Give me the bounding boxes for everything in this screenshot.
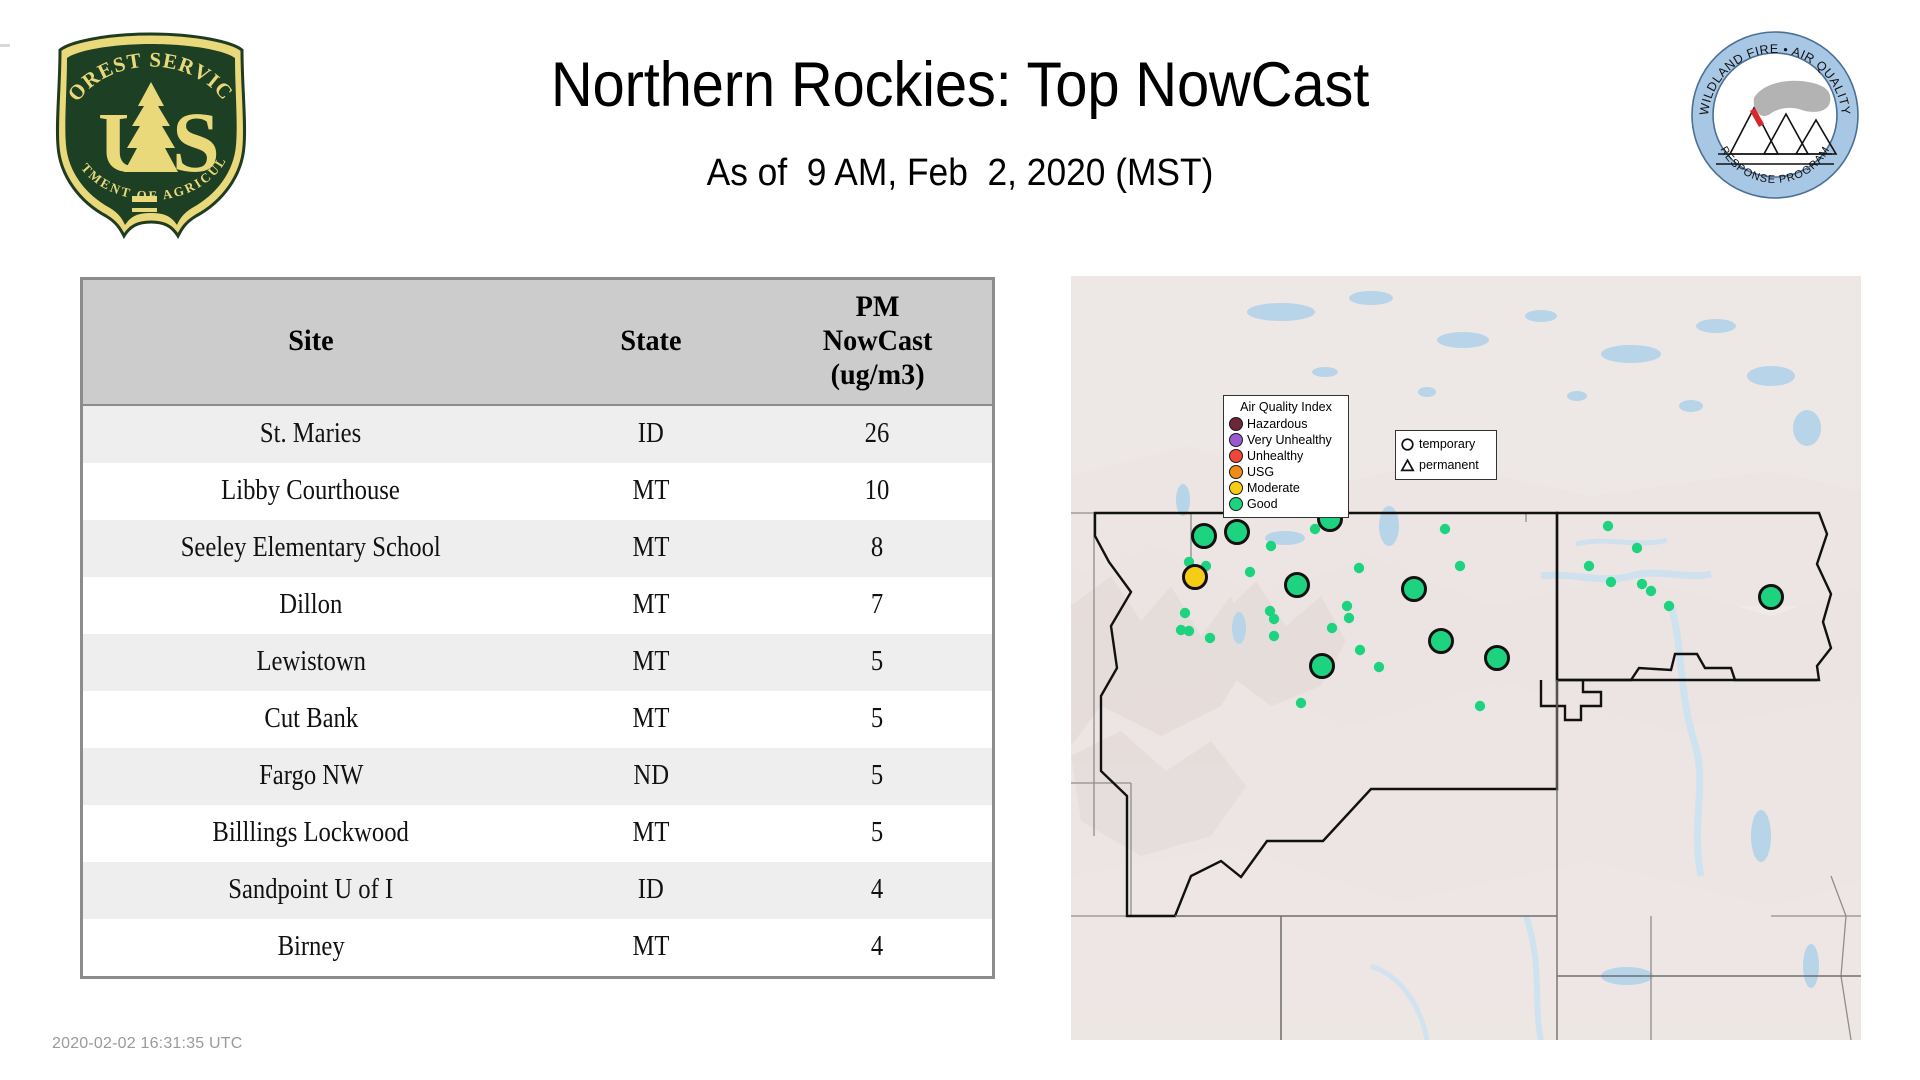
monitor-billings[interactable] bbox=[1430, 630, 1453, 653]
table-row: Fargo NWND5 bbox=[83, 748, 992, 805]
map-legend-monitor-type: temporary permanent bbox=[1395, 430, 1497, 480]
legend-title: Air Quality Index bbox=[1229, 400, 1343, 414]
cell-site-text: Birney bbox=[277, 931, 344, 963]
wildland-fire-air-quality-logo: WILDLAND FIRE • AIR QUALITY RESPONSE PRO… bbox=[1690, 30, 1860, 200]
table-row: BirneyMT4 bbox=[83, 919, 992, 976]
column-header-pm-line2: NowCast bbox=[773, 324, 981, 358]
cell-pm-nowcast: 5 bbox=[763, 748, 992, 805]
table-row: Seeley Elementary SchoolMT8 bbox=[83, 520, 992, 577]
cell-site-text: Seeley Elementary School bbox=[181, 532, 441, 564]
cell-site: St. Maries bbox=[83, 405, 539, 463]
cell-state: MT bbox=[539, 919, 763, 976]
cell-state: MT bbox=[539, 634, 763, 691]
cell-site-text: Libby Courthouse bbox=[222, 475, 401, 507]
cell-site-text: Billlings Lockwood bbox=[213, 817, 409, 849]
map-monitor-small bbox=[1310, 524, 1320, 534]
cell-state-text: MT bbox=[632, 532, 669, 564]
cell-state-text: MT bbox=[632, 817, 669, 849]
column-header-site: Site bbox=[83, 280, 539, 405]
cell-site: Lewistown bbox=[83, 634, 539, 691]
table-row: Sandpoint U of IID4 bbox=[83, 862, 992, 919]
map-monitor-small bbox=[1269, 614, 1279, 624]
cell-pm-nowcast-text: 10 bbox=[865, 475, 890, 507]
monitor-sandpoint[interactable] bbox=[1193, 525, 1216, 548]
cell-site: Seeley Elementary School bbox=[83, 520, 539, 577]
cell-pm-nowcast-text: 8 bbox=[871, 532, 883, 564]
cell-state-text: MT bbox=[632, 589, 669, 621]
map-monitor-small bbox=[1374, 662, 1384, 672]
monitor-lewistown[interactable] bbox=[1403, 578, 1426, 601]
cell-site: Dillon bbox=[83, 577, 539, 634]
map-monitor-small bbox=[1269, 631, 1279, 641]
table-row: DillonMT7 bbox=[83, 577, 992, 634]
map-monitor-small bbox=[1632, 543, 1642, 553]
legend-label-temporary: temporary bbox=[1419, 438, 1475, 451]
cell-site-text: Fargo NW bbox=[259, 760, 363, 792]
cell-site-text: Cut Bank bbox=[264, 703, 358, 735]
cell-state-text: MT bbox=[632, 931, 669, 963]
table-header-row: Site State PM NowCast (ug/m3) bbox=[83, 280, 992, 405]
legend-swatch-icon bbox=[1229, 449, 1243, 463]
cell-site-text: Sandpoint U of I bbox=[228, 874, 393, 906]
monitor-fargo-nw[interactable] bbox=[1760, 586, 1783, 609]
legend-row-usg: USG bbox=[1229, 464, 1343, 480]
page-subtitle: As of 9 AM, Feb 2, 2020 (MST) bbox=[346, 152, 1574, 195]
table-row: Billlings LockwoodMT5 bbox=[83, 805, 992, 862]
legend-swatch-icon bbox=[1229, 433, 1243, 447]
cell-state-text: ID bbox=[638, 418, 664, 450]
map-monitor-small bbox=[1296, 698, 1306, 708]
nowcast-table-body: St. MariesID26Libby CourthouseMT10Seeley… bbox=[83, 405, 992, 976]
map-legend-air-quality-index: Air Quality Index HazardousVery Unhealth… bbox=[1223, 395, 1349, 518]
cell-state-text: ND bbox=[633, 760, 669, 792]
legend-row-very-unhealthy: Very Unhealthy bbox=[1229, 432, 1343, 448]
table-row: Cut BankMT5 bbox=[83, 691, 992, 748]
legend-label: Moderate bbox=[1247, 482, 1300, 495]
permanent-triangle-icon bbox=[1400, 458, 1415, 473]
cell-site: Fargo NW bbox=[83, 748, 539, 805]
map-monitor-small bbox=[1205, 633, 1215, 643]
legend-row-temporary: temporary bbox=[1400, 434, 1492, 455]
cell-site-text: Dillon bbox=[279, 589, 342, 621]
legend-label-permanent: permanent bbox=[1419, 459, 1479, 472]
cell-pm-nowcast-text: 4 bbox=[871, 874, 883, 906]
cell-pm-nowcast: 8 bbox=[763, 520, 992, 577]
cell-pm-nowcast-text: 5 bbox=[871, 760, 883, 792]
cell-state: ID bbox=[539, 405, 763, 463]
cell-site: Billlings Lockwood bbox=[83, 805, 539, 862]
legend-swatch-icon bbox=[1229, 465, 1243, 479]
monitor-birney[interactable] bbox=[1486, 647, 1509, 670]
nowcast-table: Site State PM NowCast (ug/m3) St. Maries… bbox=[83, 280, 992, 976]
cell-pm-nowcast-text: 7 bbox=[871, 589, 883, 621]
table-row: St. MariesID26 bbox=[83, 405, 992, 463]
legend-row-good: Good bbox=[1229, 496, 1343, 512]
page-title: Northern Rockies: Top NowCast bbox=[353, 52, 1567, 118]
legend-label: Very Unhealthy bbox=[1247, 434, 1332, 447]
cell-pm-nowcast-text: 4 bbox=[871, 931, 883, 963]
cell-state: MT bbox=[539, 577, 763, 634]
column-header-state-label: State bbox=[549, 324, 752, 358]
nowcast-table-container: Site State PM NowCast (ug/m3) St. Maries… bbox=[80, 277, 995, 979]
slide-root: FOREST SERVICE DEPARTMENT OF AGRICULTURE… bbox=[0, 0, 1920, 1080]
cell-state: MT bbox=[539, 463, 763, 520]
cell-pm-nowcast: 10 bbox=[763, 463, 992, 520]
map-monitor-small bbox=[1266, 541, 1276, 551]
cell-site: Birney bbox=[83, 919, 539, 976]
cell-pm-nowcast: 26 bbox=[763, 405, 992, 463]
cell-site: Cut Bank bbox=[83, 691, 539, 748]
generation-timestamp: 2020-02-02 16:31:35 UTC bbox=[52, 1035, 243, 1053]
monitor-st-maries[interactable] bbox=[1184, 566, 1207, 589]
cell-state: MT bbox=[539, 691, 763, 748]
map-monitor-small bbox=[1342, 601, 1352, 611]
legend-row-moderate: Moderate bbox=[1229, 480, 1343, 496]
air-quality-map[interactable]: Air Quality Index HazardousVery Unhealth… bbox=[1071, 276, 1861, 1040]
column-header-site-label: Site bbox=[100, 324, 521, 358]
cell-state: ND bbox=[539, 748, 763, 805]
legend-swatch-icon bbox=[1229, 417, 1243, 431]
cell-pm-nowcast: 4 bbox=[763, 862, 992, 919]
cell-site-text: St. Maries bbox=[260, 418, 361, 450]
map-monitor-small bbox=[1606, 577, 1616, 587]
cell-state-text: MT bbox=[632, 703, 669, 735]
cell-state: MT bbox=[539, 805, 763, 862]
monitor-libby[interactable] bbox=[1226, 521, 1249, 544]
map-monitor-small bbox=[1245, 567, 1255, 577]
cell-state-text: ID bbox=[638, 874, 664, 906]
legend-label: Unhealthy bbox=[1247, 450, 1303, 463]
cell-pm-nowcast-text: 5 bbox=[871, 646, 883, 678]
cell-pm-nowcast-text: 5 bbox=[871, 703, 883, 735]
map-monitor-small bbox=[1664, 601, 1674, 611]
map-monitor-small bbox=[1475, 701, 1485, 711]
column-header-state: State bbox=[539, 280, 763, 405]
cell-site-text: Lewistown bbox=[256, 646, 366, 678]
cell-site: Libby Courthouse bbox=[83, 463, 539, 520]
legend-label: USG bbox=[1247, 466, 1274, 479]
legend-row-unhealthy: Unhealthy bbox=[1229, 448, 1343, 464]
cell-pm-nowcast: 7 bbox=[763, 577, 992, 634]
column-header-pm-line1: PM bbox=[773, 290, 981, 324]
map-monitor-small bbox=[1646, 586, 1656, 596]
map-monitor-small bbox=[1327, 623, 1337, 633]
map-monitor-small bbox=[1354, 563, 1364, 573]
monitor-dillon[interactable] bbox=[1311, 655, 1334, 678]
map-monitor-small bbox=[1440, 524, 1450, 534]
cell-pm-nowcast: 5 bbox=[763, 805, 992, 862]
column-header-pm-nowcast: PM NowCast (ug/m3) bbox=[763, 280, 992, 405]
legend-row-hazardous: Hazardous bbox=[1229, 416, 1343, 432]
cell-state: MT bbox=[539, 520, 763, 577]
cell-pm-nowcast-text: 26 bbox=[865, 418, 890, 450]
legend-row-permanent: permanent bbox=[1400, 455, 1492, 476]
map-canvas bbox=[1071, 276, 1861, 1040]
legend-label: Hazardous bbox=[1247, 418, 1307, 431]
legend-swatch-icon bbox=[1229, 497, 1243, 511]
map-monitor-small bbox=[1603, 521, 1613, 531]
cell-pm-nowcast-text: 5 bbox=[871, 817, 883, 849]
map-monitor-small bbox=[1584, 561, 1594, 571]
cell-state-text: MT bbox=[632, 475, 669, 507]
table-row: Libby CourthouseMT10 bbox=[83, 463, 992, 520]
cell-state-text: MT bbox=[632, 646, 669, 678]
cell-state: ID bbox=[539, 862, 763, 919]
monitor-seeley[interactable] bbox=[1286, 574, 1309, 597]
legend-label: Good bbox=[1247, 498, 1278, 511]
map-monitor-small bbox=[1180, 608, 1190, 618]
logo-letter-s: S bbox=[172, 94, 220, 190]
cell-site: Sandpoint U of I bbox=[83, 862, 539, 919]
legend-swatch-icon bbox=[1229, 481, 1243, 495]
usda-forest-service-logo: FOREST SERVICE DEPARTMENT OF AGRICULTURE… bbox=[46, 26, 256, 244]
cell-pm-nowcast: 5 bbox=[763, 691, 992, 748]
column-header-pm-line3: (ug/m3) bbox=[773, 358, 981, 392]
map-monitor-small bbox=[1184, 626, 1194, 636]
map-monitor-small bbox=[1344, 613, 1354, 623]
map-monitor-small bbox=[1355, 645, 1365, 655]
map-monitor-small bbox=[1455, 561, 1465, 571]
map-monitor-small bbox=[1637, 579, 1647, 589]
temporary-circle-icon bbox=[1400, 437, 1415, 452]
table-row: LewistownMT5 bbox=[83, 634, 992, 691]
cell-pm-nowcast: 4 bbox=[763, 919, 992, 976]
edge-marker bbox=[0, 44, 10, 47]
cell-pm-nowcast: 5 bbox=[763, 634, 992, 691]
